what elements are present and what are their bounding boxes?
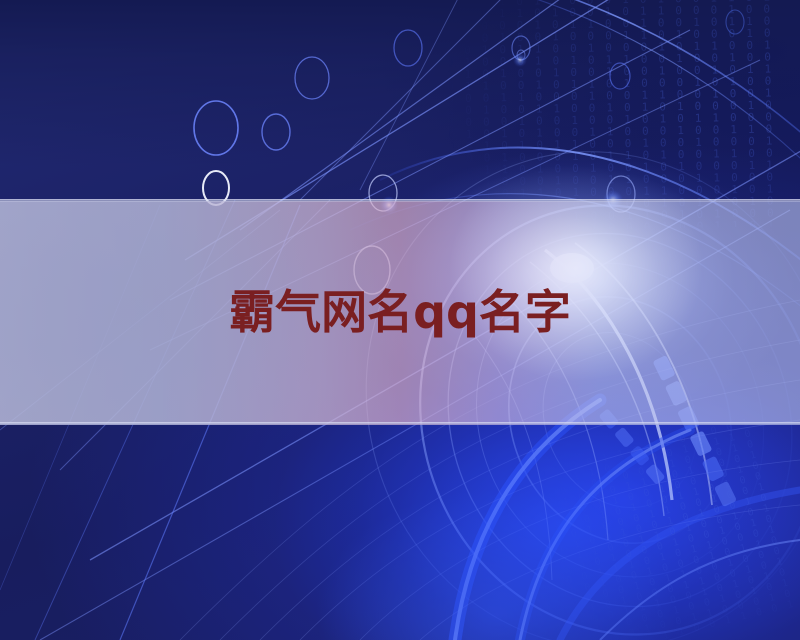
band-top-edge (0, 199, 800, 202)
banner-image: 0 1 0 0 1 0 1 1 0 0 0 1 0 1 0 0 1 1 0 1 … (0, 0, 800, 640)
page-title: 霸气网名qq名字 (229, 289, 571, 335)
glow-dot-group (380, 53, 623, 214)
band-bottom-edge (0, 422, 800, 425)
title-container: 霸气网名qq名字 (0, 289, 800, 335)
